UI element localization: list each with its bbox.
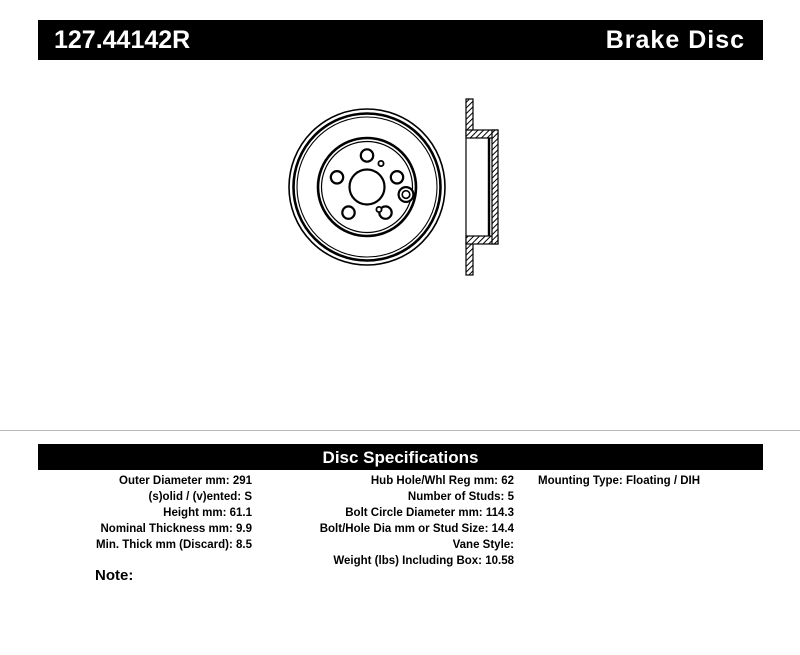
spec-label: Hub Hole/Whl Reg mm: xyxy=(371,475,498,487)
spec-row: Mounting Type: Floating / DIH xyxy=(538,473,800,489)
spec-value: 9.9 xyxy=(236,523,252,535)
spec-label: Mounting Type: xyxy=(538,475,623,487)
spec-row: Bolt/Hole Dia mm or Stud Size: 14.4 xyxy=(260,521,514,537)
header-bar: 127.44142R Brake Disc xyxy=(38,20,763,60)
brake-disc-drawing-svg xyxy=(0,70,800,420)
spec-label: Weight (lbs) Including Box: xyxy=(333,555,482,567)
spec-label: Number of Studs: xyxy=(408,491,504,503)
spec-row: Number of Studs: 5 xyxy=(260,489,514,505)
spec-value: Floating / DIH xyxy=(626,475,700,487)
spec-value: 10.58 xyxy=(485,555,514,567)
spec-value: 14.4 xyxy=(492,523,514,535)
spec-value: 8.5 xyxy=(236,539,252,551)
spec-column-left: Outer Diameter mm: 291 (s)olid / (v)ente… xyxy=(0,473,260,553)
alignment-pin-hole xyxy=(378,161,383,166)
part-number: 127.44142R xyxy=(54,28,190,53)
spec-row: Vane Style: xyxy=(260,537,514,553)
specifications-table: Outer Diameter mm: 291 (s)olid / (v)ente… xyxy=(0,473,800,569)
alignment-pin-hole xyxy=(376,207,381,212)
brake-disc-side-profile-view xyxy=(466,99,498,275)
spec-row: Outer Diameter mm: 291 xyxy=(0,473,252,489)
spec-label: Height mm: xyxy=(163,507,226,519)
lug-hole xyxy=(391,171,403,183)
spec-label: Vane Style: xyxy=(453,539,514,551)
spec-value: 5 xyxy=(508,491,514,503)
technical-drawing-area xyxy=(0,70,800,420)
spec-row: Height mm: 61.1 xyxy=(0,505,252,521)
spec-label: Nominal Thickness mm: xyxy=(101,523,233,535)
section-divider xyxy=(0,430,800,431)
product-type-title: Brake Disc xyxy=(606,28,745,53)
spec-value: 291 xyxy=(233,475,252,487)
spec-label: (s)olid / (v)ented: xyxy=(148,491,241,503)
brake-disc-face-view xyxy=(289,109,445,265)
spec-row: Hub Hole/Whl Reg mm: 62 xyxy=(260,473,514,489)
lug-hole xyxy=(331,171,343,183)
lug-hole xyxy=(361,149,373,161)
spec-column-center: Hub Hole/Whl Reg mm: 62 Number of Studs:… xyxy=(260,473,520,569)
spec-value: 61.1 xyxy=(230,507,252,519)
disc-specifications-label: Disc Specifications xyxy=(323,449,479,466)
spec-row: Weight (lbs) Including Box: 10.58 xyxy=(260,553,514,569)
disc-specifications-banner: Disc Specifications xyxy=(38,444,763,470)
spec-row: Bolt Circle Diameter mm: 114.3 xyxy=(260,505,514,521)
lug-hole xyxy=(342,206,354,218)
note-block: Note: xyxy=(95,568,133,583)
spec-label: Outer Diameter mm: xyxy=(119,475,230,487)
note-label: Note: xyxy=(95,567,133,584)
disc-outer-edge xyxy=(492,130,498,244)
spec-row: (s)olid / (v)ented: S xyxy=(0,489,252,505)
spec-value: 62 xyxy=(501,475,514,487)
spec-row: Nominal Thickness mm: 9.9 xyxy=(0,521,252,537)
spec-row: Min. Thick mm (Discard): 8.5 xyxy=(0,537,252,553)
spec-value: 114.3 xyxy=(486,507,514,519)
spec-label: Bolt/Hole Dia mm or Stud Size: xyxy=(320,523,489,535)
spec-label: Bolt Circle Diameter mm: xyxy=(345,507,482,519)
spec-label: Min. Thick mm (Discard): xyxy=(96,539,233,551)
threaded-extractor-hole xyxy=(399,187,414,202)
spec-column-right: Mounting Type: Floating / DIH xyxy=(520,473,800,489)
spec-value: S xyxy=(244,491,252,503)
